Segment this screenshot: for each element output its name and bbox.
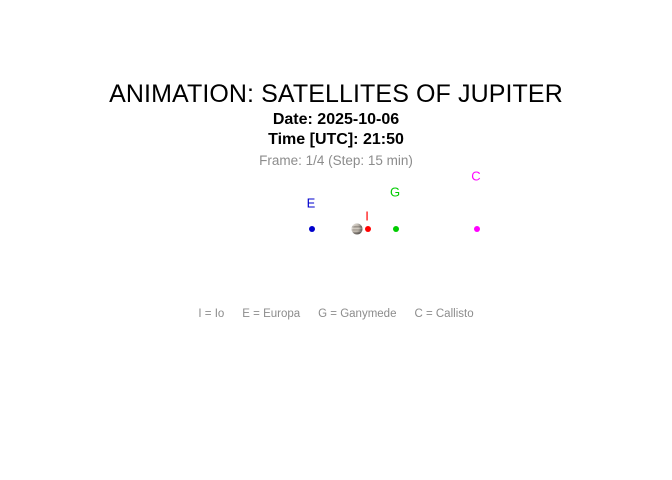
moon-marker-ganymede [393,226,399,232]
moon-marker-callisto [474,226,480,232]
jupiter-disk [352,224,363,235]
legend-entry: G = Ganymede [318,307,396,321]
legend-entry: C = Callisto [414,307,473,321]
legend-entry: E = Europa [242,307,300,321]
moon-label-europa: E [307,197,316,210]
moon-label-callisto: C [471,170,480,183]
moon-label-io: I [365,210,369,223]
moon-label-ganymede: G [390,186,400,199]
animation-canvas: ANIMATION: SATELLITES OF JUPITER Date: 2… [0,0,672,480]
legend: I = IoE = EuropaG = GanymedeC = Callisto [0,307,672,321]
sky-plot: EIGC [0,0,672,480]
legend-entry: I = Io [198,307,224,321]
moon-marker-europa [309,226,315,232]
moon-marker-io [365,226,371,232]
